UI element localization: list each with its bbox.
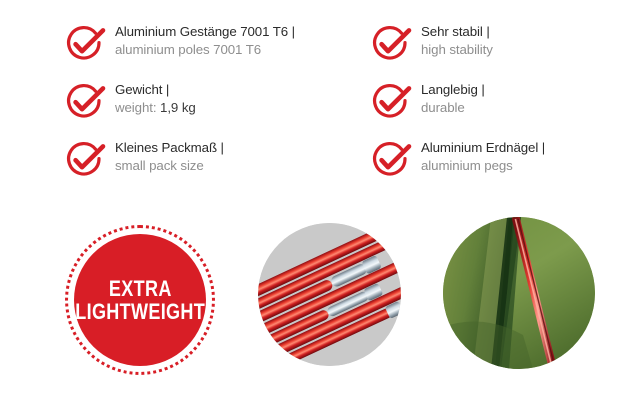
feature-item-text: Kleines Packmaß | small pack size: [106, 138, 224, 174]
feature-item-text: Aluminium Erdnägel | aluminium pegs: [412, 138, 545, 174]
feature-item-weight: Gewicht | weight: 1,9 kg: [62, 80, 342, 138]
feature-item-pegs: Aluminium Erdnägel | aluminium pegs: [368, 138, 640, 196]
photo-tent-pole-detail: [443, 217, 595, 369]
media-strip: EXTRA LIGHTWEIGHT: [0, 205, 640, 400]
feature-item-text: Langlebig | durable: [412, 80, 485, 116]
feature-label-en: weight: 1,9 kg: [115, 99, 196, 117]
feature-label-de: Langlebig |: [421, 81, 485, 99]
feature-label-en: small pack size: [115, 157, 224, 175]
feature-item-text: Sehr stabil | high stability: [412, 22, 493, 58]
feature-label-de: Aluminium Gestänge 7001 T6 |: [115, 23, 295, 41]
check-circle-icon: [62, 82, 106, 124]
check-circle-icon: [368, 140, 412, 182]
check-circle-icon: [368, 24, 412, 66]
feature-label-en: aluminium pegs: [421, 157, 545, 175]
feature-label-en: high stability: [421, 41, 493, 59]
feature-item-text: Gewicht | weight: 1,9 kg: [106, 80, 196, 116]
feature-item-pack-size: Kleines Packmaß | small pack size: [62, 138, 342, 196]
feature-weight-value: 1,9 kg: [160, 100, 196, 115]
feature-label-en: aluminium poles 7001 T6: [115, 41, 295, 59]
feature-label-de: Sehr stabil |: [421, 23, 493, 41]
feature-item-text: Aluminium Gestänge 7001 T6 | aluminium p…: [106, 22, 295, 58]
feature-label-en-prefix: weight:: [115, 100, 156, 115]
feature-item-durable: Langlebig | durable: [368, 80, 640, 138]
badge-disc: EXTRA LIGHTWEIGHT: [74, 234, 206, 366]
photo-aluminium-poles: [258, 223, 401, 366]
check-circle-icon: [62, 140, 106, 182]
feature-item-aluminium-poles: Aluminium Gestänge 7001 T6 | aluminium p…: [62, 22, 342, 80]
feature-label-de: Gewicht |: [115, 81, 196, 99]
check-circle-icon: [368, 82, 412, 124]
badge-line-2: LIGHTWEIGHT: [75, 300, 205, 323]
badge-line-1: EXTRA: [109, 277, 172, 300]
feature-column-right: Sehr stabil | high stability Langlebig |…: [368, 22, 640, 196]
feature-column-left: Aluminium Gestänge 7001 T6 | aluminium p…: [62, 22, 342, 196]
feature-item-stability: Sehr stabil | high stability: [368, 22, 640, 80]
feature-label-en: durable: [421, 99, 485, 117]
feature-label-de: Kleines Packmaß |: [115, 139, 224, 157]
feature-list: Aluminium Gestänge 7001 T6 | aluminium p…: [0, 0, 640, 205]
extra-lightweight-badge: EXTRA LIGHTWEIGHT: [65, 225, 215, 375]
check-circle-icon: [62, 24, 106, 66]
feature-label-de: Aluminium Erdnägel |: [421, 139, 545, 157]
